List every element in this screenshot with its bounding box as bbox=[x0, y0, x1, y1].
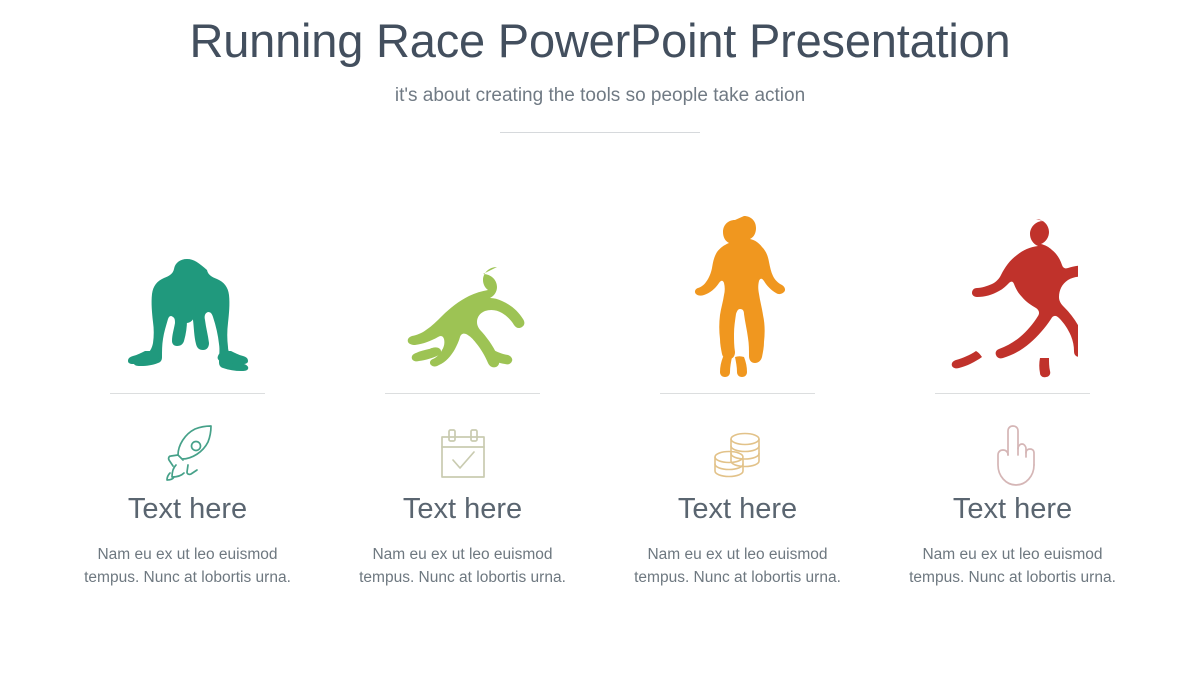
feature-columns: Text here Nam eu ex ut leo euismod tempu… bbox=[0, 196, 1200, 590]
presentation-slide: Running Race PowerPoint Presentation it'… bbox=[0, 0, 1200, 675]
feature-column-1[interactable]: Text here Nam eu ex ut leo euismod tempu… bbox=[50, 196, 325, 590]
column-heading: Text here bbox=[403, 494, 522, 526]
feature-column-2[interactable]: Text here Nam eu ex ut leo euismod tempu… bbox=[325, 196, 600, 590]
column-divider bbox=[935, 393, 1090, 394]
slide-header: Running Race PowerPoint Presentation it'… bbox=[0, 0, 1200, 133]
column-divider bbox=[110, 393, 265, 394]
pointing-hand-icon bbox=[986, 416, 1040, 494]
rocket-icon bbox=[156, 416, 220, 494]
coins-stack-icon bbox=[708, 416, 768, 494]
column-body-text: Nam eu ex ut leo euismod tempus. Nunc at… bbox=[905, 526, 1120, 590]
column-heading: Text here bbox=[678, 494, 797, 526]
runner-sprint-side-silhouette bbox=[875, 196, 1150, 381]
column-divider bbox=[660, 393, 815, 394]
column-body-text: Nam eu ex ut leo euismod tempus. Nunc at… bbox=[80, 526, 295, 590]
page-title: Running Race PowerPoint Presentation bbox=[0, 0, 1200, 68]
column-body-text: Nam eu ex ut leo euismod tempus. Nunc at… bbox=[630, 526, 845, 590]
column-body-text: Nam eu ex ut leo euismod tempus. Nunc at… bbox=[355, 526, 570, 590]
feature-column-3[interactable]: Text here Nam eu ex ut leo euismod tempu… bbox=[600, 196, 875, 590]
column-heading: Text here bbox=[953, 494, 1072, 526]
runner-front-run-silhouette bbox=[600, 196, 875, 381]
slide-subtitle: it's about creating the tools so people … bbox=[0, 68, 1200, 108]
feature-column-4[interactable]: Text here Nam eu ex ut leo euismod tempu… bbox=[875, 196, 1150, 590]
title-divider bbox=[500, 132, 700, 133]
runner-crouch-start-silhouette bbox=[325, 196, 600, 381]
column-divider bbox=[385, 393, 540, 394]
column-heading: Text here bbox=[128, 494, 247, 526]
calendar-check-icon bbox=[434, 416, 492, 494]
runner-crouch-front-silhouette bbox=[50, 196, 325, 381]
